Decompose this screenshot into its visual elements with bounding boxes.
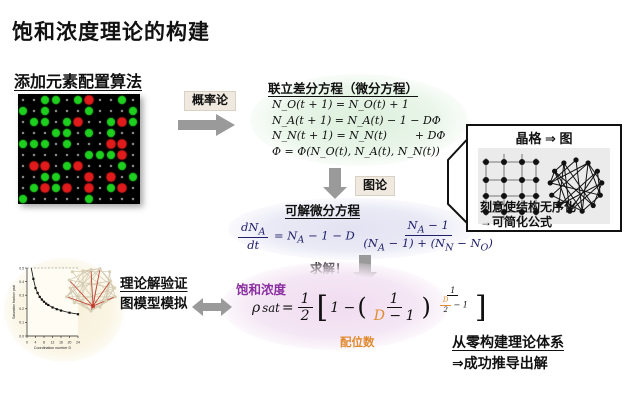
ode-frac-den-sub2: N xyxy=(445,243,453,254)
ode-rhs-prefix-sub: A xyxy=(297,235,304,246)
inner-den-d: D xyxy=(374,308,385,324)
ode-frac-den-mid2: − N xyxy=(457,236,480,250)
ode-frac-den-tail: ) xyxy=(488,236,493,250)
chip-graph-theory: 图论 xyxy=(355,176,395,196)
conclusion-text: 从零构建理论体系 ⇒成功推导出解 xyxy=(452,332,564,374)
ode-lhs-fraction: dNA dt xyxy=(238,221,268,251)
ode-frac-den-mid: − 1) + (N xyxy=(389,236,446,250)
svg-text:0.1: 0.1 xyxy=(19,321,24,325)
exp-num: 1 xyxy=(447,287,458,296)
graph-note-line1: 刻意使结构无序化 xyxy=(480,200,576,215)
paren-open: ( xyxy=(357,297,366,317)
svg-text:8: 8 xyxy=(43,341,45,345)
lattice-to-graph-title: 晶格 ⇒ 图 xyxy=(468,128,620,147)
one-half-den: 2 xyxy=(298,308,313,324)
ode-lhs-den: dt xyxy=(244,238,262,251)
svg-text:20: 20 xyxy=(68,341,72,345)
formula-equals: = xyxy=(282,300,294,316)
conclusion-line2: ⇒成功推导出解 xyxy=(452,353,564,374)
lattice-image xyxy=(18,94,140,204)
bracket-close: ] xyxy=(475,295,487,321)
bracket-open: [ xyxy=(317,295,329,321)
inner-den-tail: − 1 xyxy=(389,308,414,324)
svg-text:0.4: 0.4 xyxy=(19,280,24,284)
one-minus: 1 − xyxy=(330,300,355,316)
inner-num: 1 xyxy=(387,292,402,308)
inner-fraction: 1 D − 1 xyxy=(371,292,418,323)
exp-den-tail: − 1 xyxy=(453,301,467,310)
verification-line2: 图模型模拟 xyxy=(120,294,188,314)
coordination-number-label: 配位数 xyxy=(340,334,375,350)
arrow-right-probability xyxy=(178,113,236,137)
svg-text:24: 24 xyxy=(76,341,80,345)
saturation-formula: ρsat = 1 2 [ 1 − ( 1 D − 1 ) 1 D2− 1 ] xyxy=(252,287,487,328)
ode-lhs-num-sub: A xyxy=(258,226,265,237)
svg-text:16: 16 xyxy=(59,341,63,345)
exp-den-half: 2 xyxy=(440,306,450,314)
lattice-canvas xyxy=(18,94,140,204)
ode-frac-den: (N xyxy=(363,236,378,250)
svg-text:0.2: 0.2 xyxy=(19,307,24,311)
svg-text:4: 4 xyxy=(35,341,37,345)
svg-text:0.5: 0.5 xyxy=(19,266,24,270)
conclusion-line1: 从零构建理论体系 xyxy=(452,332,564,353)
rho-subscript: sat xyxy=(262,301,280,315)
ode-title: 可解微分方程 xyxy=(285,200,360,219)
exponent-fraction: 1 D2− 1 xyxy=(435,287,471,314)
svg-text:0.0: 0.0 xyxy=(19,334,24,338)
chip-probability: 概率论 xyxy=(184,91,236,111)
slide-canvas: 饱和浓度理论的构建 添加元素配置算法 概率论 联立差分方程（微分方程） N_O(… xyxy=(0,0,624,400)
rho-symbol: ρ xyxy=(252,300,260,316)
ode-lhs-num: dN xyxy=(241,220,258,234)
svg-text:12: 12 xyxy=(51,341,55,345)
ode-rhs-mid: − 1 − D xyxy=(308,228,355,242)
svg-text:Coordination number D: Coordination number D xyxy=(34,346,72,350)
one-half-fraction: 1 2 xyxy=(298,292,313,323)
svg-text:0.3: 0.3 xyxy=(19,294,24,298)
graph-note: 刻意使结构无序化 →可简化公式 xyxy=(480,200,576,230)
arrow-double-verify xyxy=(192,296,232,318)
graph-note-line2: →可简化公式 xyxy=(480,215,576,230)
page-title: 饱和浓度理论的构建 xyxy=(12,16,210,46)
one-half-num: 1 xyxy=(298,292,313,308)
verification-label: 理论解验证 图模型模拟 xyxy=(120,274,188,313)
ode-rhs-prefix: = N xyxy=(274,228,297,242)
verification-line1: 理论解验证 xyxy=(120,274,188,294)
exp-den-d: D xyxy=(440,297,452,305)
svg-text:Saturation fraction ρsat: Saturation fraction ρsat xyxy=(12,285,16,319)
svg-text:0: 0 xyxy=(26,341,28,345)
difference-equation-title: 联立差分方程（微分方程） xyxy=(268,78,418,97)
arrow-down-graph-theory xyxy=(322,168,348,200)
paren-close: ) xyxy=(421,297,430,317)
network-thumbnail xyxy=(62,262,120,318)
ode-frac-den-sub1: A xyxy=(378,243,385,254)
algorithm-heading: 添加元素配置算法 xyxy=(14,68,142,92)
ode-frac-num: N xyxy=(408,218,418,232)
